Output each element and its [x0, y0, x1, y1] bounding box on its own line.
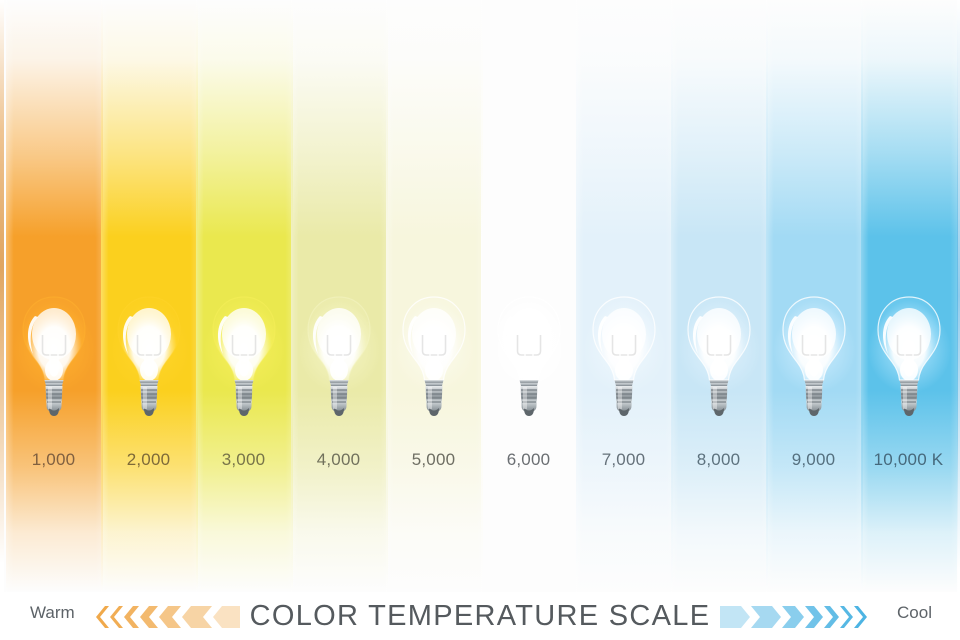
- bulb-3000k: [205, 294, 283, 422]
- warm-chevron-4: [140, 606, 158, 628]
- cool-chevron-2: [710, 606, 750, 628]
- cool-chevron-4: [782, 606, 804, 628]
- bulb-6000k: [490, 294, 568, 422]
- cool-chevron-6: [824, 606, 839, 628]
- cool-chevron-1: [663, 606, 709, 628]
- bulb-7000k: [585, 294, 663, 422]
- color-temperature-scale-infographic: 1,0002,0003,0004,0005,0006,0007,0008,000…: [0, 0, 960, 640]
- warm-label: Warm: [30, 603, 75, 623]
- bulb-2000k: [110, 294, 188, 422]
- bulb-9000k: [775, 294, 853, 422]
- warm-chevron-5: [159, 606, 181, 628]
- left-edge-accent: [0, 0, 4, 592]
- bulb-8000k: [680, 294, 758, 422]
- bulb-5000k: [395, 294, 473, 422]
- cool-label: Cool: [897, 603, 932, 623]
- temperature-label-10000k: 10,000 K: [849, 450, 960, 470]
- legend-bar: COLOR TEMPERATURE SCALE Warm Cool: [0, 592, 960, 640]
- warm-chevron-7: [213, 606, 253, 628]
- cool-arrow-group: [663, 606, 868, 628]
- warm-chevron-1: [96, 606, 109, 628]
- warm-chevron-2: [110, 606, 123, 628]
- cool-chevron-3: [751, 606, 781, 628]
- page-title-text: COLOR TEMPERATURE SCALE: [240, 600, 721, 633]
- warm-chevron-6: [182, 606, 212, 628]
- cool-chevron-7: [840, 606, 853, 628]
- warm-chevron-3: [124, 606, 139, 628]
- cool-chevron-8: [854, 606, 867, 628]
- bulb-4000k: [300, 294, 378, 422]
- bulb-10000k: [870, 294, 948, 422]
- bulb-1000k: [15, 294, 93, 422]
- warm-chevron-8: [254, 606, 300, 628]
- cool-chevron-5: [805, 606, 823, 628]
- warm-arrow-group: [96, 606, 301, 628]
